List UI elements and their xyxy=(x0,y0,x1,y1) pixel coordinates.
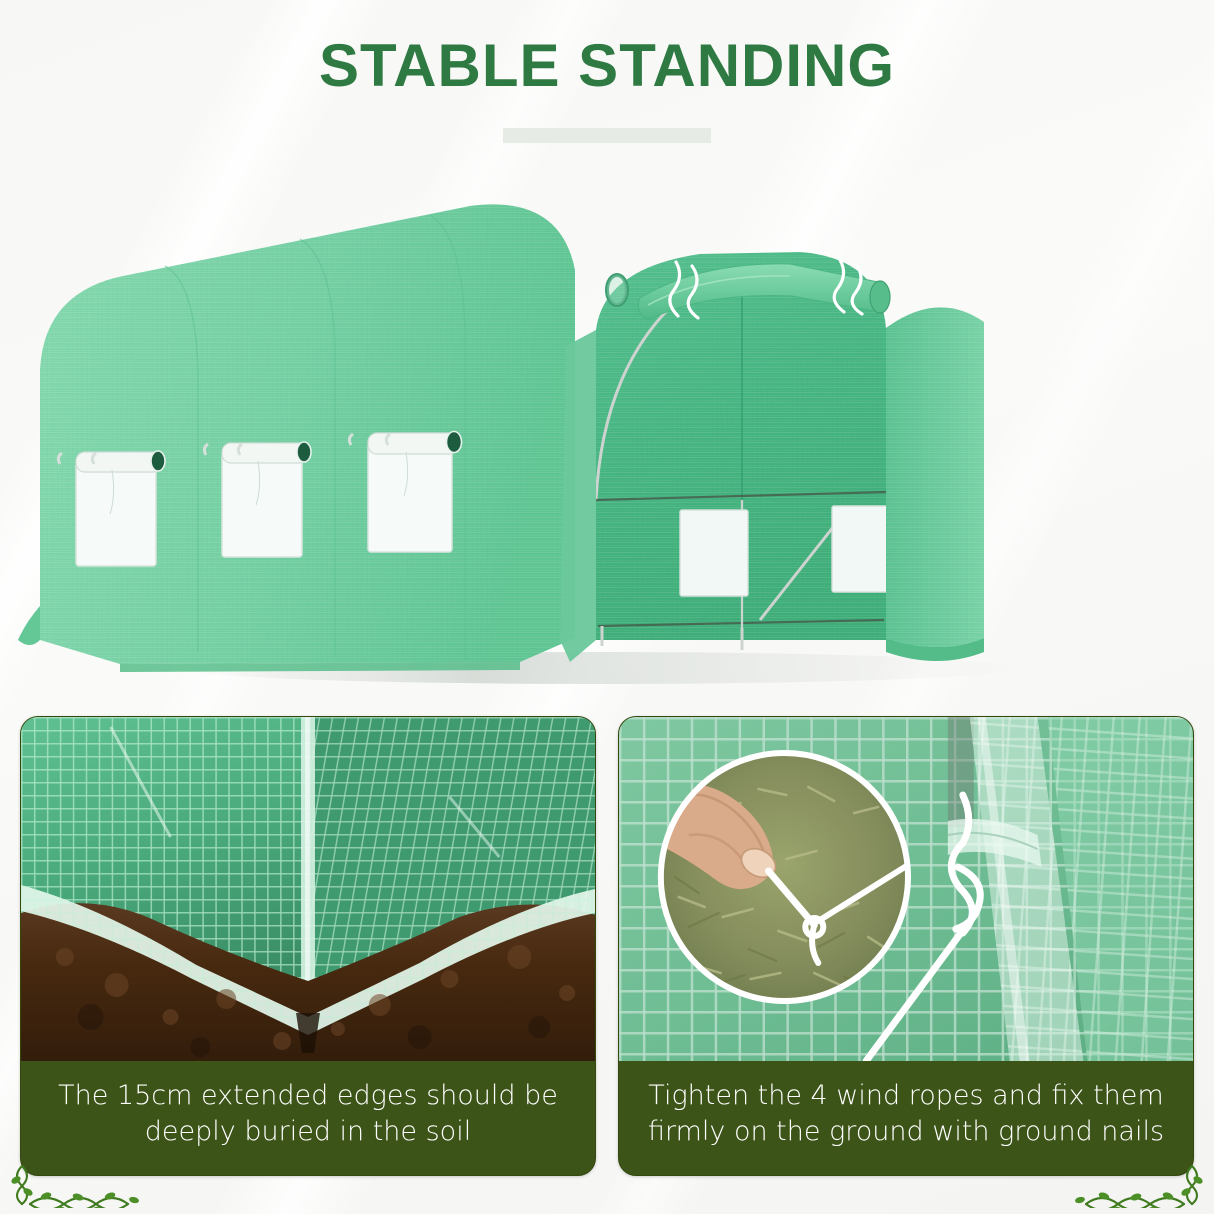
page-title: STABLE STANDING xyxy=(0,34,1214,97)
photo-wind-ropes xyxy=(619,717,1193,1061)
feature-card-buried-edges: The 15cm extended edges should be deeply… xyxy=(20,716,596,1176)
side-window-group xyxy=(58,432,461,567)
greenhouse-side-body xyxy=(18,204,575,672)
caption-wind-ropes: Tighten the 4 wind ropes and fix them fi… xyxy=(619,1061,1193,1175)
front-window xyxy=(680,510,748,596)
caption-buried-edges: The 15cm extended edges should be deeply… xyxy=(21,1061,595,1175)
front-window xyxy=(832,506,894,592)
hero-product-image xyxy=(0,170,1214,700)
feature-card-list: The 15cm extended edges should be deeply… xyxy=(20,716,1194,1176)
vine-filigree-icon-left xyxy=(6,1164,156,1208)
greenhouse-front xyxy=(560,252,984,662)
title-block: STABLE STANDING xyxy=(0,34,1214,143)
vine-filigree-icon-right xyxy=(1058,1164,1208,1208)
title-divider xyxy=(503,128,711,143)
feature-card-wind-ropes: Tighten the 4 wind ropes and fix them fi… xyxy=(618,716,1194,1176)
photo-buried-edges xyxy=(21,717,595,1061)
